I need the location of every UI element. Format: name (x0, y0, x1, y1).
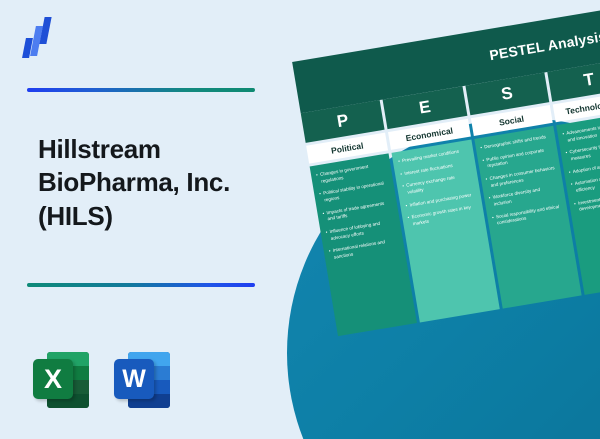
divider-top (27, 88, 255, 92)
pestel-analysis-chart: PESTEL Analysis P E S T Political Econom… (292, 8, 600, 348)
excel-icon[interactable]: X (33, 352, 89, 408)
pestel-title: PESTEL Analysis (488, 28, 600, 63)
divider-bottom (27, 283, 255, 287)
excel-letter: X (33, 359, 73, 399)
page-title: Hillstream BioPharma, Inc. (HILS) (38, 133, 288, 233)
word-letter: W (114, 359, 154, 399)
brand-logo (22, 16, 56, 58)
app-icon-group: X W (33, 352, 170, 408)
list-item: Advancements in technology and innovatio… (562, 120, 600, 145)
word-icon[interactable]: W (114, 352, 170, 408)
logo-bar-3 (39, 17, 51, 44)
slide-canvas: Hillstream BioPharma, Inc. (HILS) X W PE… (0, 0, 600, 439)
